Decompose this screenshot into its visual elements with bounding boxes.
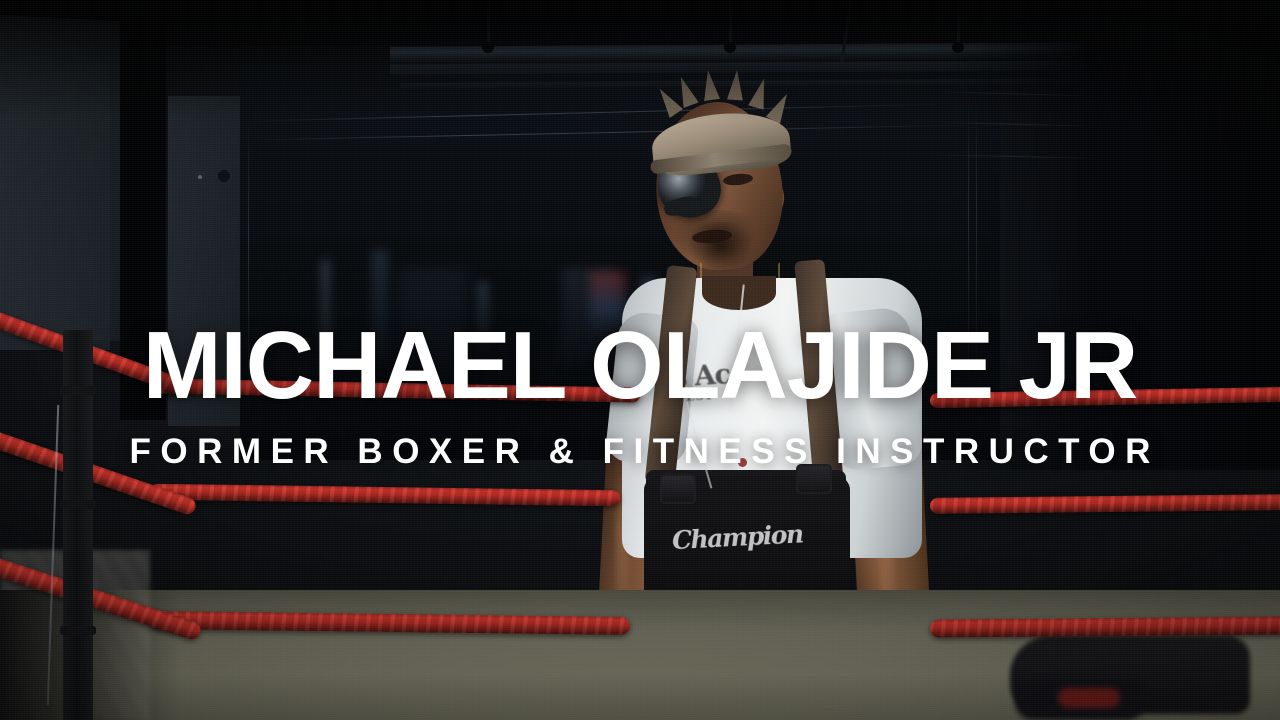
turnbuckle bbox=[60, 386, 96, 395]
background-equipment bbox=[398, 268, 468, 386]
hanging-rod-knob bbox=[482, 42, 494, 53]
headband-spike bbox=[727, 69, 745, 100]
hanging-rod bbox=[487, 0, 490, 48]
gym-scene: is Ac EST Champion bbox=[0, 0, 1280, 720]
tshirt-collar bbox=[702, 276, 776, 310]
wall-shadow-column bbox=[120, 0, 166, 420]
equipment-bag-accent bbox=[1058, 688, 1120, 708]
wall-cabinet-face bbox=[0, 60, 110, 350]
turnbuckle bbox=[60, 500, 96, 509]
turnbuckle bbox=[60, 626, 96, 635]
door-latch bbox=[218, 170, 230, 182]
rope-texture bbox=[930, 616, 1280, 637]
wire-accent bbox=[738, 458, 747, 467]
headband-spike bbox=[700, 69, 720, 101]
background-equipment bbox=[322, 260, 329, 380]
hanging-rod bbox=[729, 0, 732, 48]
hanging-rod-knob bbox=[724, 42, 736, 53]
headband-spike bbox=[748, 76, 772, 109]
overall-clip-right bbox=[796, 464, 832, 494]
overall-clip-left bbox=[660, 474, 696, 504]
background-equipment bbox=[372, 250, 388, 360]
video-frame: is Ac EST Champion bbox=[0, 0, 1280, 720]
structural-line-vertical bbox=[248, 116, 249, 416]
ring-rope-bottom bbox=[930, 616, 1280, 637]
background-equipment bbox=[478, 282, 488, 354]
